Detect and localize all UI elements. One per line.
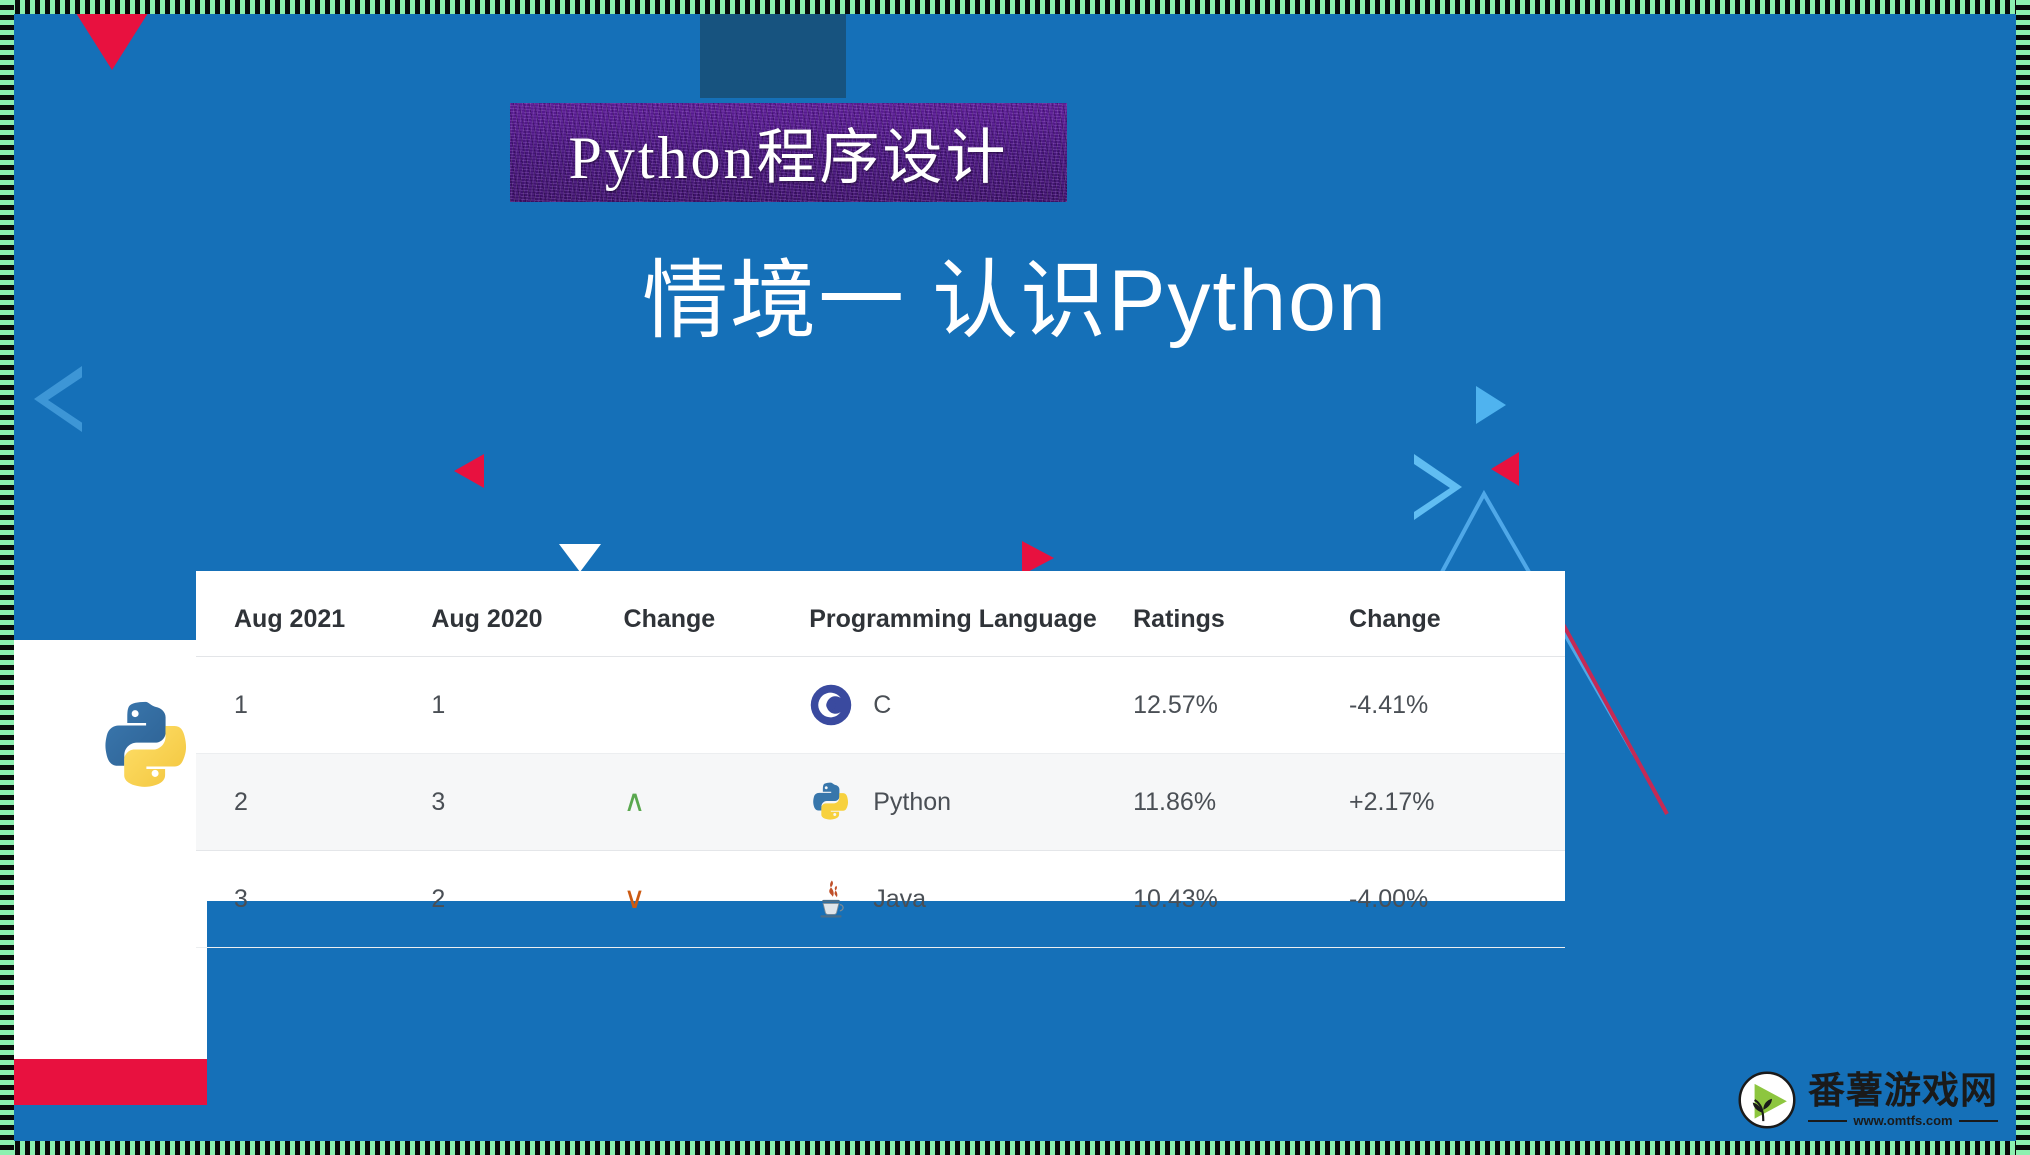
table-header-row: Aug 2021 Aug 2020 Change Programming Lan… — [196, 571, 1565, 657]
java-language-icon — [809, 877, 853, 921]
subtitle-container: 情境一 认识Python — [14, 230, 2016, 355]
language-cell-inner: Python — [809, 780, 1133, 824]
arrow-up-icon: ∧ — [624, 787, 646, 817]
triangle-left-icon-red-upper — [1491, 452, 1519, 486]
table-body: 11C12.57%-4.41%23∧Python11.86%+2.17%32∨J… — [196, 657, 1565, 948]
rectangle-shape-top — [700, 14, 846, 98]
tiobe-table: Aug 2021 Aug 2020 Change Programming Lan… — [196, 571, 1565, 948]
cell-change-arrow — [624, 657, 810, 754]
cell-rank-new: 2 — [196, 754, 431, 851]
language-name: Python — [873, 788, 951, 817]
cell-rank-new: 1 — [196, 657, 431, 754]
tiobe-index-table-card: Aug 2021 Aug 2020 Change Programming Lan… — [196, 571, 1565, 901]
page-title: Python程序设计 — [568, 109, 1008, 196]
subtitle-text: 情境一 认识Python — [642, 253, 1388, 349]
cell-change-arrow: ∨ — [624, 851, 810, 948]
triangle-right-outline-icon — [1414, 454, 1462, 520]
table-row[interactable]: 11C12.57%-4.41% — [196, 657, 1565, 754]
triangle-left-icon-mid — [454, 454, 484, 488]
cell-ratings: 12.57% — [1133, 657, 1349, 754]
triangle-right-outline-inner — [1414, 464, 1450, 512]
cell-change-percent: -4.41% — [1349, 657, 1565, 754]
python-logo-icon — [98, 698, 194, 794]
cell-change-percent: -4.00% — [1349, 851, 1565, 948]
python-logo-panel — [14, 640, 207, 1105]
watermark-url: www.omtfs.com — [1853, 1113, 1952, 1128]
column-header-ratings[interactable]: Ratings — [1133, 571, 1349, 657]
watermark: 番薯游戏网 www.omtfs.com — [1736, 1069, 1998, 1131]
table-row[interactable]: 32∨Java10.43%-4.00% — [196, 851, 1565, 948]
cell-ratings: 10.43% — [1133, 851, 1349, 948]
table-row[interactable]: 23∧Python11.86%+2.17% — [196, 754, 1565, 851]
cell-ratings: 11.86% — [1133, 754, 1349, 851]
frame-border-bottom — [0, 1141, 2030, 1155]
column-header-change2[interactable]: Change — [1349, 571, 1565, 657]
cell-language: Java — [809, 851, 1133, 948]
cell-language: C — [809, 657, 1133, 754]
cell-rank-old: 3 — [431, 754, 623, 851]
frame-border-right — [2016, 0, 2030, 1155]
column-header-change[interactable]: Change — [624, 571, 810, 657]
language-name: C — [873, 691, 891, 720]
watermark-text: 番薯游戏网 www.omtfs.com — [1808, 1072, 1998, 1129]
column-header-language[interactable]: Programming Language — [809, 571, 1133, 657]
cell-language: Python — [809, 754, 1133, 851]
column-header-rank-new[interactable]: Aug 2021 — [196, 571, 431, 657]
triangle-left-outline-icon — [34, 366, 82, 432]
language-cell-inner: C — [809, 683, 1133, 727]
language-cell-inner: Java — [809, 877, 1133, 921]
red-accent-bar — [14, 1059, 207, 1105]
python-language-icon — [809, 780, 853, 824]
divider-left — [1808, 1120, 1847, 1122]
triangle-right-icon-blue — [1476, 386, 1506, 424]
triangle-left-outline-inner — [48, 376, 84, 424]
column-header-rank-old[interactable]: Aug 2020 — [431, 571, 623, 657]
cell-rank-new: 3 — [196, 851, 431, 948]
slide-root: Python程序设计 情境一 认识Python — [0, 0, 2030, 1155]
triangle-down-icon-white — [559, 544, 601, 572]
language-name: Java — [873, 885, 926, 914]
divider-right — [1959, 1120, 1998, 1122]
title-banner: Python程序设计 — [510, 103, 1067, 202]
cell-rank-old: 1 — [431, 657, 623, 754]
slide-canvas: Python程序设计 情境一 认识Python — [14, 14, 2016, 1141]
watermark-title: 番薯游戏网 — [1808, 1072, 1998, 1111]
triangle-right-icon-red — [1022, 541, 1054, 575]
frame-border-top — [0, 0, 2030, 14]
cell-change-percent: +2.17% — [1349, 754, 1565, 851]
arrow-down-icon: ∨ — [624, 884, 646, 914]
watermark-url-row: www.omtfs.com — [1808, 1113, 1998, 1128]
play-button-sprout-icon — [1736, 1069, 1798, 1131]
frame-border-left — [0, 0, 14, 1155]
cell-rank-old: 2 — [431, 851, 623, 948]
c-language-icon — [809, 683, 853, 727]
triangle-down-icon-top — [69, 14, 155, 70]
cell-change-arrow: ∧ — [624, 754, 810, 851]
